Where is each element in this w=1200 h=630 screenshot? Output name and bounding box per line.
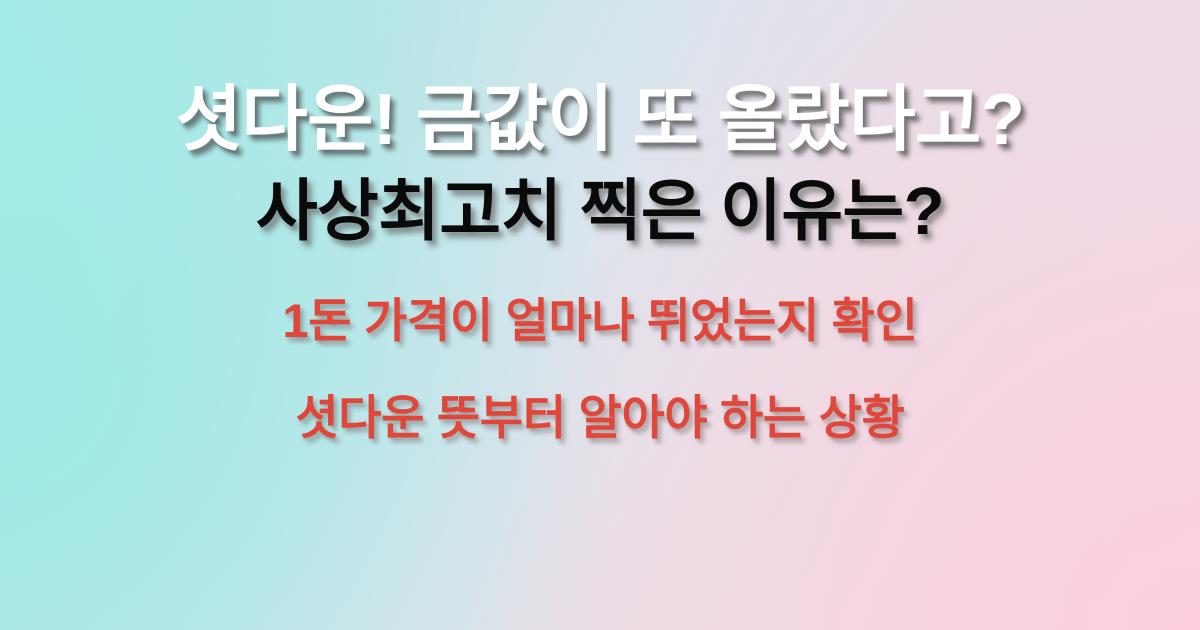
thumbnail-card: 셧다운! 금값이 또 올랐다고? 사상최고치 찍은 이유는? 1돈 가격이 얼마… [0,0,1200,630]
text-stack: 셧다운! 금값이 또 올랐다고? 사상최고치 찍은 이유는? 1돈 가격이 얼마… [0,0,1200,630]
headline-line-1: 셧다운! 금값이 또 올랐다고? [176,84,1025,156]
headline-line-2: 사상최고치 찍은 이유는? [256,178,944,245]
subcopy-line-1: 1돈 가격이 얼마나 뛰었는지 확인 [282,297,917,344]
subcopy-line-2: 셧다운 뜻부터 알아야 하는 상황 [295,394,904,441]
